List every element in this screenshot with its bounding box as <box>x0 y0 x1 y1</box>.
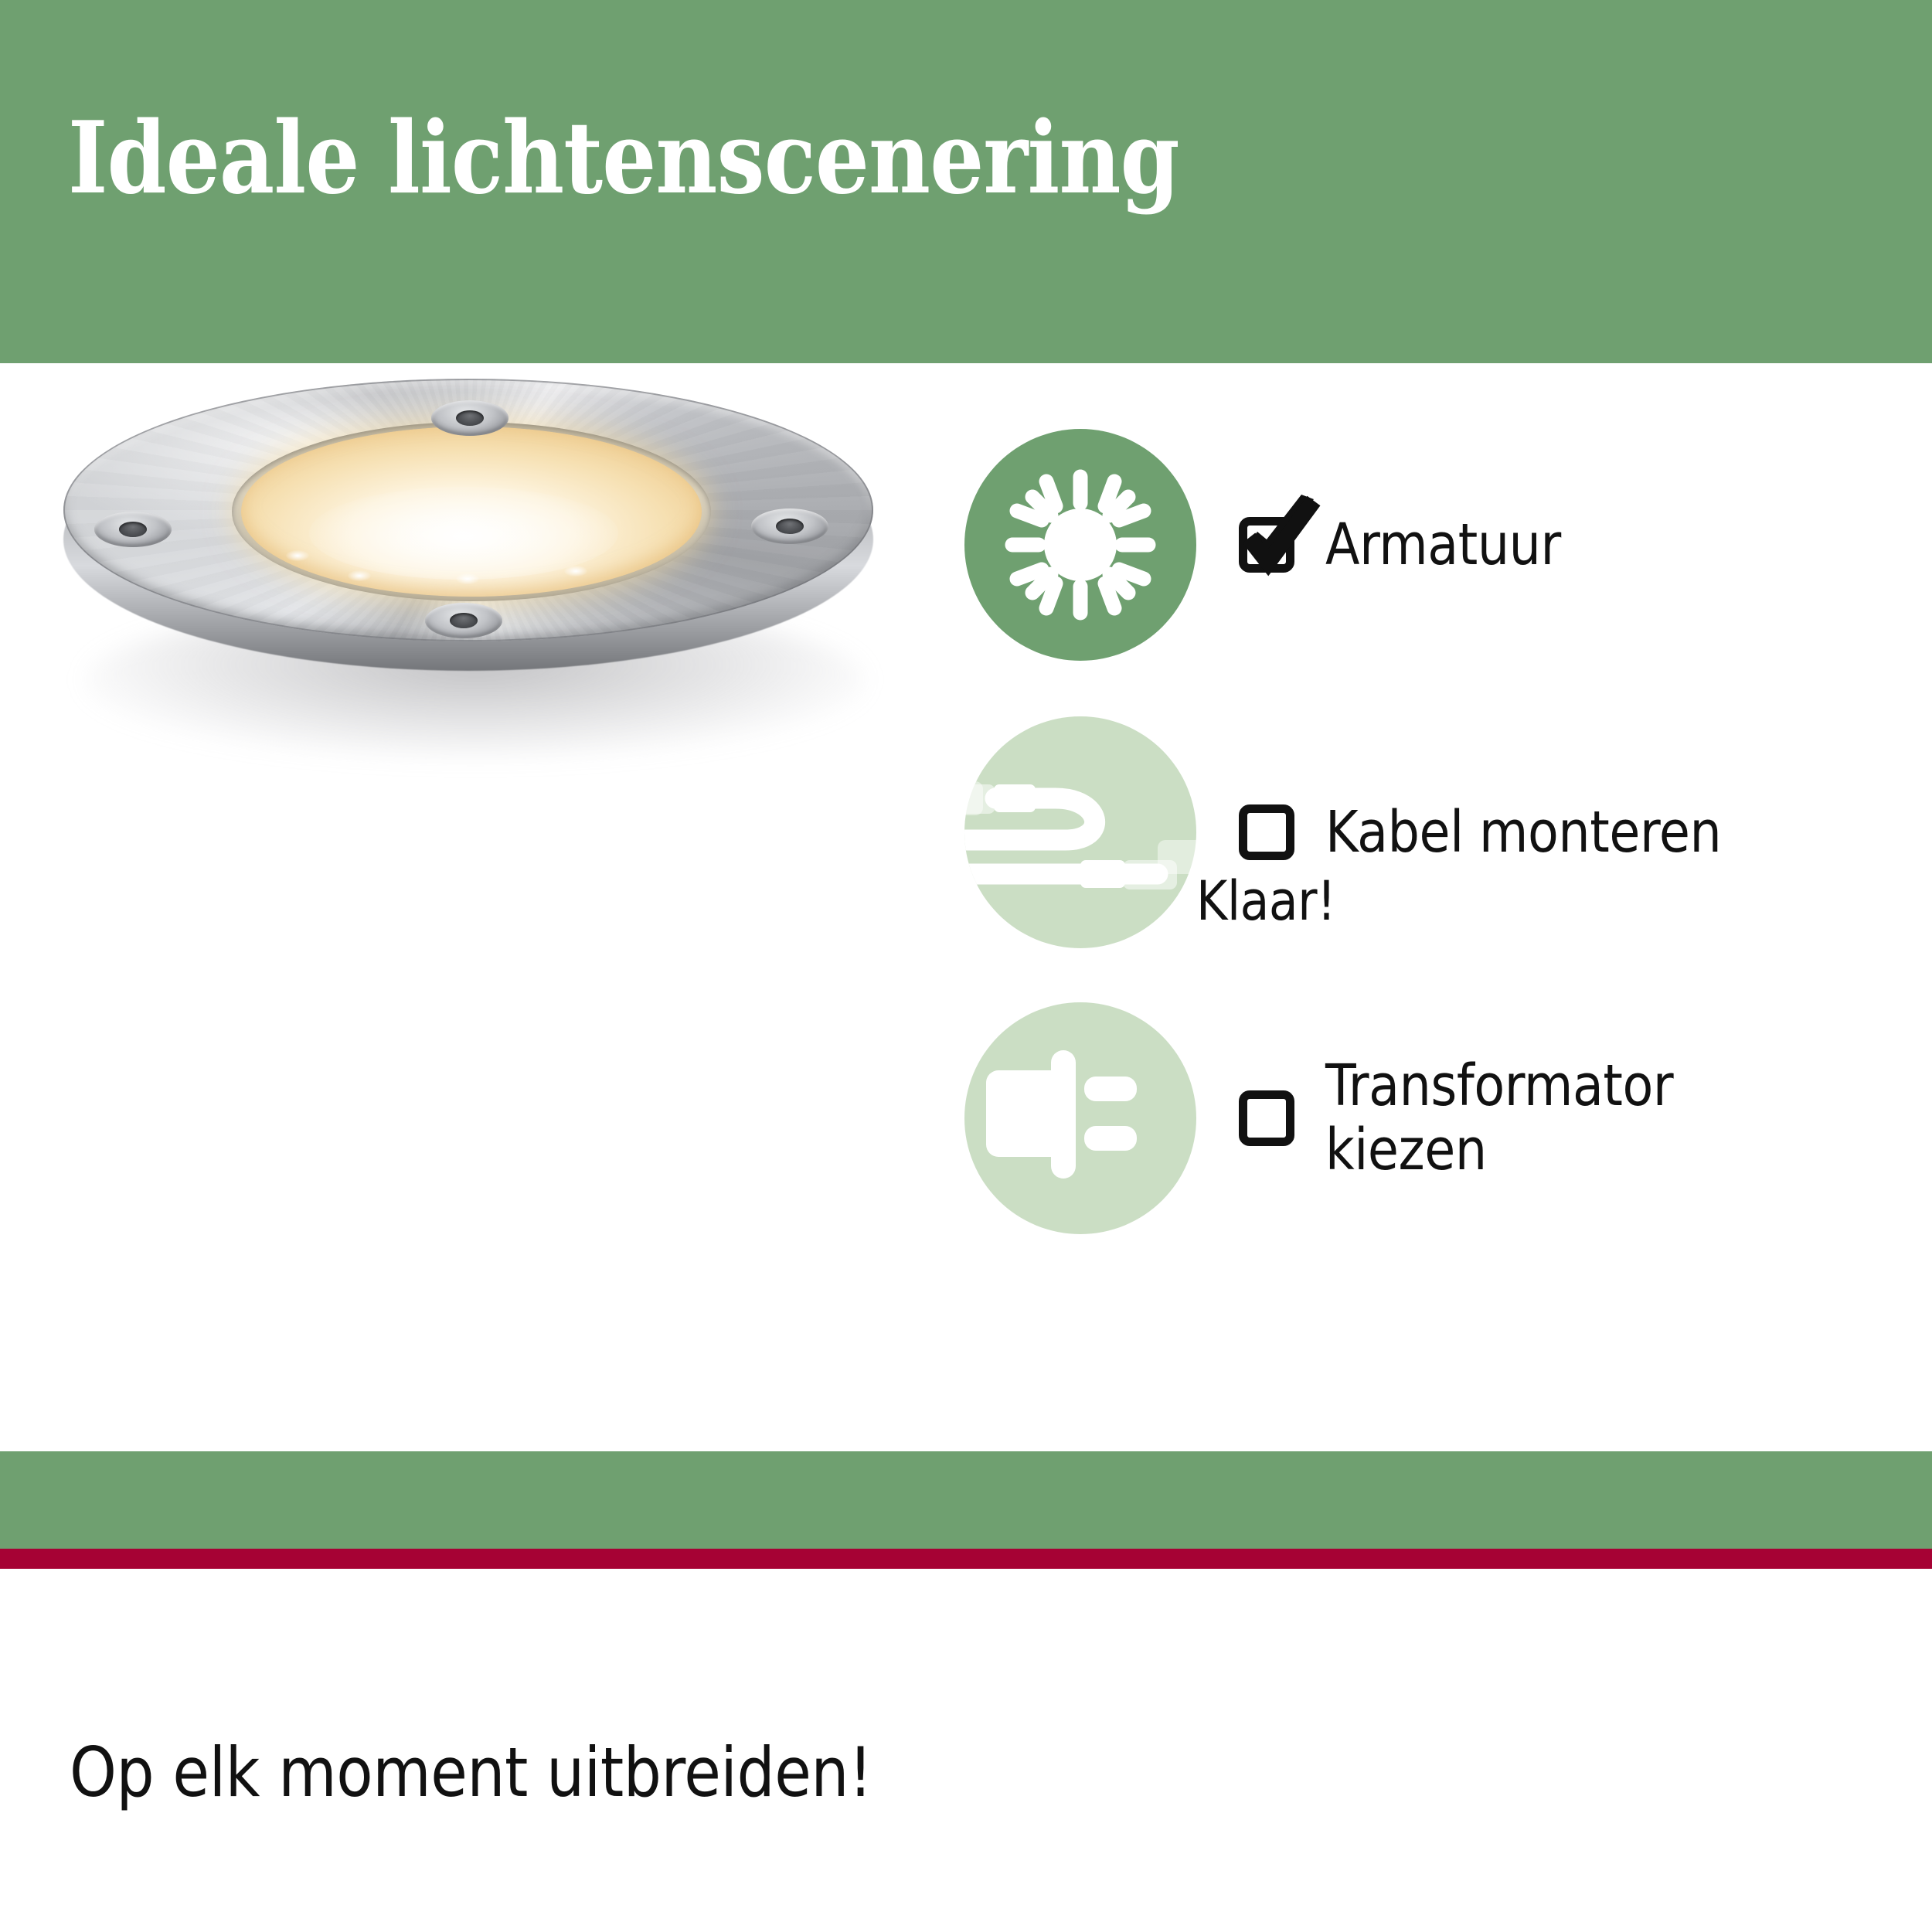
checklist-label-armatuur: Armatuur <box>1325 513 1561 577</box>
product-image <box>54 371 896 757</box>
led-glow <box>456 573 479 584</box>
icon-badge-kabel <box>964 716 1196 948</box>
bottom-green-band <box>0 1451 1932 1549</box>
page-title: Ideale lichtenscenering <box>68 105 1179 212</box>
checkbox-armatuur[interactable] <box>1239 517 1294 573</box>
checklist-label-transformator: Transformator kiezen <box>1325 1054 1673 1182</box>
bottom-red-band <box>0 1549 1932 1569</box>
checkbox-transformator[interactable] <box>1239 1090 1294 1146</box>
screw-icon <box>431 400 509 436</box>
screw-icon <box>751 509 828 544</box>
screw-icon <box>94 512 172 547</box>
led-glow <box>564 566 587 577</box>
done-text: Klaar! <box>1196 869 1335 933</box>
icon-badge-armatuur <box>964 429 1196 661</box>
led-glow <box>286 550 309 561</box>
checklist-item-armatuur[interactable]: Armatuur <box>964 429 1593 661</box>
luminaire-body <box>54 371 889 696</box>
checkmark-icon <box>1233 493 1325 584</box>
checklist-item-kabel[interactable]: Kabel monteren <box>964 716 1775 948</box>
checklist-label-kabel: Kabel monteren <box>1325 801 1721 865</box>
cable-icon <box>964 716 1196 948</box>
checkbox-kabel[interactable] <box>1239 804 1294 860</box>
footer-text: Op elk moment uitbreiden! <box>70 1733 872 1812</box>
sun-icon <box>964 429 1196 661</box>
screw-icon <box>425 603 502 638</box>
power-plug-icon <box>964 1002 1196 1234</box>
icon-badge-transformator <box>964 1002 1196 1234</box>
checklist-item-transformator[interactable]: Transformator kiezen <box>964 1002 1721 1234</box>
led-glow <box>348 570 371 581</box>
